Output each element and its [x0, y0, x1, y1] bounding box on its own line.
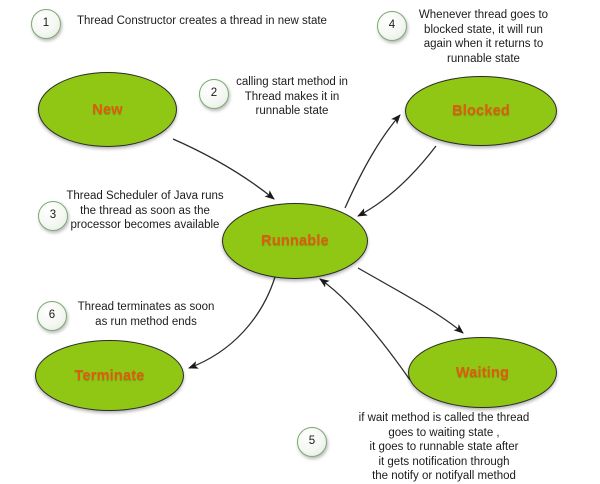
note-badge-number: 1 — [43, 18, 49, 30]
note-text-5: if wait method is called the threadgoes … — [328, 411, 560, 484]
state-node-waiting[interactable]: Waiting — [408, 337, 557, 408]
note-badge-number: 5 — [309, 436, 315, 448]
note-badge-number: 4 — [389, 20, 395, 32]
edge-waiting-to-runnable — [320, 279, 410, 380]
state-label-new: New — [92, 102, 122, 118]
note-line: again when it returns to — [402, 37, 565, 52]
note-line: goes to waiting state , — [328, 426, 560, 441]
note-line: Thread terminates as soon — [66, 300, 226, 315]
note-badge-5: 5 — [297, 427, 327, 457]
note-line: the thread as soon as the — [62, 204, 228, 219]
note-line: Whenever thread goes to — [402, 8, 565, 23]
state-label-blocked: Blocked — [452, 103, 510, 119]
state-node-terminate[interactable]: Terminate — [35, 340, 184, 411]
note-line: blocked state, it will run — [402, 23, 565, 38]
note-badge-6: 6 — [37, 301, 67, 331]
state-label-terminate: Terminate — [74, 368, 144, 384]
note-text-1: Thread Constructor creates a thread in n… — [77, 14, 377, 29]
note-text-6: Thread terminates as soonas run method e… — [66, 300, 226, 329]
note-line: the notify or notifyall method — [328, 469, 560, 484]
state-label-runnable: Runnable — [261, 233, 329, 249]
note-line: Thread Scheduler of Java runs — [62, 189, 228, 204]
note-text-4: Whenever thread goes toblocked state, it… — [402, 8, 565, 66]
edge-runnable-to-blocked — [345, 115, 400, 208]
note-line: Thread Constructor creates a thread in n… — [77, 14, 377, 29]
note-badge-number: 3 — [50, 210, 56, 222]
note-line: processor becomes available — [62, 218, 228, 233]
state-node-runnable[interactable]: Runnable — [222, 203, 368, 279]
note-line: it gets notification through — [328, 455, 560, 470]
note-line: runnable state — [402, 52, 565, 67]
note-badge-number: 2 — [211, 88, 217, 100]
note-text-3: Thread Scheduler of Java runsthe thread … — [62, 189, 228, 233]
state-node-blocked[interactable]: Blocked — [405, 76, 557, 146]
edge-blocked-to-runnable — [358, 146, 436, 216]
edge-runnable-to-waiting — [358, 268, 463, 333]
note-text-2: calling start method inThread makes it i… — [218, 75, 366, 119]
state-node-new[interactable]: New — [38, 72, 177, 147]
thread-lifecycle-diagram: New Blocked Runnable Terminate Waiting 1… — [0, 0, 600, 484]
note-line: calling start method in — [218, 75, 366, 90]
note-line: if wait method is called the thread — [328, 411, 560, 426]
note-line: it goes to runnable state after — [328, 440, 560, 455]
note-badge-number: 6 — [49, 310, 55, 322]
note-badge-1: 1 — [31, 9, 61, 39]
note-line: runnable state — [218, 104, 366, 119]
note-line: as run method ends — [66, 315, 226, 330]
state-label-waiting: Waiting — [456, 365, 509, 381]
note-line: Thread makes it in — [218, 90, 366, 105]
